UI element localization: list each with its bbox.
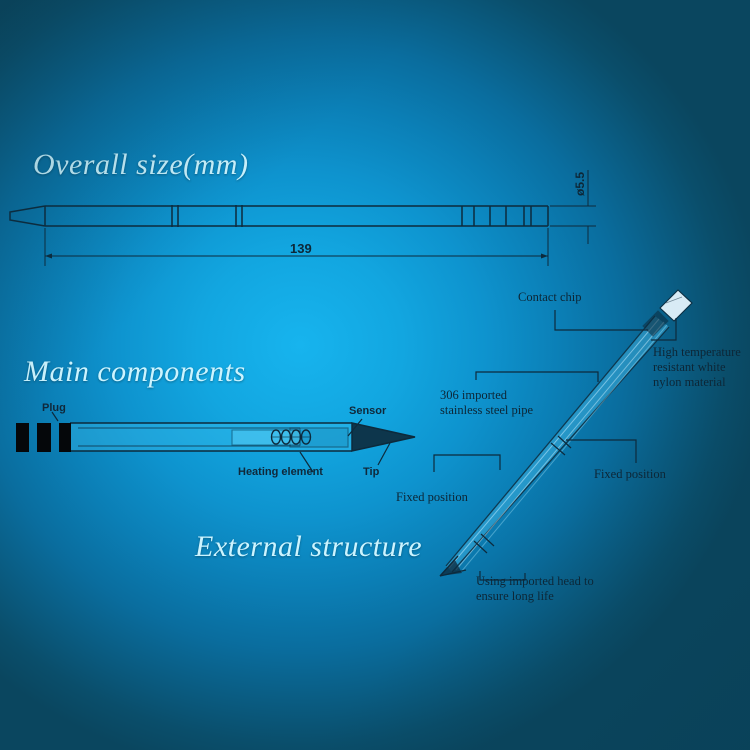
plug-band [59,423,71,452]
probe-shaft-diagonal [440,290,692,576]
heating-coil [271,430,311,444]
diagram-canvas: Overall size(mm) Main components Externa… [0,0,750,750]
heading-external-structure: External structure [195,530,422,564]
callout-steel-pipe-line-1: 306 imported [440,388,533,403]
callout-steel-pipe-line-2: stainless steel pipe [440,403,533,418]
callout-heating-element: Heating element [238,466,323,479]
callout-plug: Plug [42,402,66,415]
probe-body-main [62,423,415,451]
callout-steel-pipe: 306 imported stainless steel pipe [440,388,533,418]
callout-nylon-line-1: High temperature [653,345,741,360]
callout-nylon-line-3: nylon material [653,375,741,390]
heading-overall-size: Overall size(mm) [33,148,248,182]
callout-fixed-position-right: Fixed position [594,467,666,482]
dimension-length-value: 139 [290,241,312,256]
callout-nylon-material: High temperature resistant white nylon m… [653,345,741,389]
callout-imported-head-line-2: ensure long life [476,589,594,604]
callout-tip: Tip [363,466,379,479]
dimension-diameter-value: ø5.5 [573,172,587,196]
plug-band [37,423,51,452]
probe-outline-top [10,205,548,227]
heading-main-components: Main components [24,355,246,389]
plug-band [16,423,29,452]
callout-nylon-line-2: resistant white [653,360,741,375]
callout-fixed-position-left: Fixed position [396,490,468,505]
callout-imported-head-line-1: Using imported head to [476,574,594,589]
external-leader-lines [434,310,676,580]
callout-imported-head: Using imported head to ensure long life [476,574,594,604]
callout-sensor: Sensor [349,405,386,418]
callout-contact-chip: Contact chip [518,290,582,305]
main-leader-lines [52,412,390,472]
